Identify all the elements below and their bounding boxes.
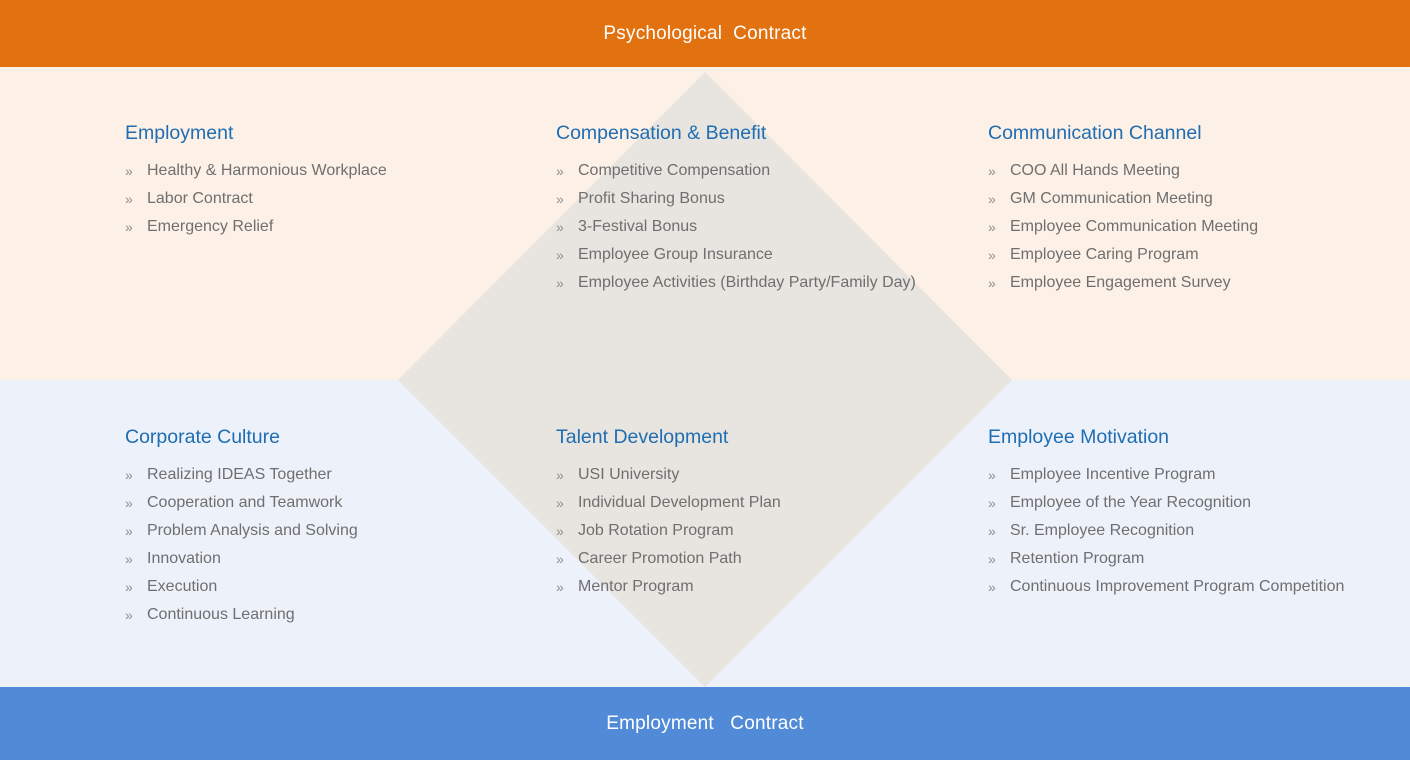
chevron-bullet-icon: »	[556, 545, 564, 573]
list-item: » Career Promotion Path	[556, 545, 916, 573]
chevron-bullet-icon: »	[988, 517, 996, 545]
list-item-label: USI University	[578, 466, 679, 483]
chevron-bullet-icon: »	[556, 489, 564, 517]
chevron-bullet-icon: »	[556, 241, 564, 269]
chevron-bullet-icon: »	[125, 601, 133, 629]
content-grid: Employment » Healthy & Harmonious Workpl…	[0, 67, 1410, 687]
list-item-label: Employee Incentive Program	[1010, 466, 1215, 483]
list-item: » Profit Sharing Bonus	[556, 185, 916, 213]
column-list: » Competitive Compensation » Profit Shar…	[556, 157, 916, 297]
list-item: » Mentor Program	[556, 573, 916, 601]
chevron-bullet-icon: »	[125, 573, 133, 601]
list-item-label: Execution	[147, 578, 217, 595]
list-item: » 3-Festival Bonus	[556, 213, 916, 241]
footer-banner: Employment Contract	[0, 687, 1410, 760]
list-item-label: Job Rotation Program	[578, 522, 734, 539]
list-item: » COO All Hands Meeting	[988, 157, 1358, 185]
list-item-label: Competitive Compensation	[578, 162, 770, 179]
column-list: » Realizing IDEAS Together » Cooperation…	[125, 461, 485, 629]
list-item: » USI University	[556, 461, 916, 489]
chevron-bullet-icon: »	[988, 545, 996, 573]
list-item-label: Employee Caring Program	[1010, 246, 1199, 263]
column-title: Employment	[125, 121, 485, 145]
chevron-bullet-icon: »	[556, 213, 564, 241]
list-item: » Job Rotation Program	[556, 517, 916, 545]
chevron-bullet-icon: »	[556, 517, 564, 545]
column-list: » Employee Incentive Program » Employee …	[988, 461, 1358, 601]
list-item-label: Continuous Improvement Program Competiti…	[1010, 578, 1344, 595]
list-item: » Realizing IDEAS Together	[125, 461, 485, 489]
column-title: Employee Motivation	[988, 425, 1358, 449]
list-item-label: 3-Festival Bonus	[578, 218, 697, 235]
header-title: Psychological Contract	[603, 23, 806, 45]
list-item: » Employee Engagement Survey	[988, 269, 1358, 297]
column-title: Compensation & Benefit	[556, 121, 916, 145]
list-item: » Employee Caring Program	[988, 241, 1358, 269]
list-item-label: Healthy & Harmonious Workplace	[147, 162, 387, 179]
list-item-label: Continuous Learning	[147, 606, 295, 623]
list-item: » Continuous Learning	[125, 601, 485, 629]
list-item-label: Innovation	[147, 550, 221, 567]
list-item-label: Individual Development Plan	[578, 494, 781, 511]
list-item-label: Cooperation and Teamwork	[147, 494, 342, 511]
chevron-bullet-icon: »	[125, 545, 133, 573]
chevron-bullet-icon: »	[125, 213, 133, 241]
list-item: » Employee Incentive Program	[988, 461, 1358, 489]
chevron-bullet-icon: »	[556, 573, 564, 601]
list-item: » Retention Program	[988, 545, 1358, 573]
list-item-label: Profit Sharing Bonus	[578, 190, 725, 207]
list-item: » Emergency Relief	[125, 213, 485, 241]
list-item-label: Labor Contract	[147, 190, 253, 207]
column-talent-development: Talent Development » USI University » In…	[556, 425, 916, 601]
chevron-bullet-icon: »	[988, 489, 996, 517]
list-item: » Healthy & Harmonious Workplace	[125, 157, 485, 185]
list-item: » Employee of the Year Recognition	[988, 489, 1358, 517]
list-item-label: Employee Group Insurance	[578, 246, 773, 263]
chevron-bullet-icon: »	[988, 213, 996, 241]
list-item: » Continuous Improvement Program Competi…	[988, 573, 1358, 601]
chevron-bullet-icon: »	[988, 157, 996, 185]
chevron-bullet-icon: »	[556, 461, 564, 489]
list-item-label: Problem Analysis and Solving	[147, 522, 358, 539]
list-item-label: Employee of the Year Recognition	[1010, 494, 1251, 511]
list-item-label: Realizing IDEAS Together	[147, 466, 332, 483]
column-title: Corporate Culture	[125, 425, 485, 449]
list-item-label: Emergency Relief	[147, 218, 273, 235]
list-item: » Innovation	[125, 545, 485, 573]
list-item: » Employee Group Insurance	[556, 241, 916, 269]
list-item-label: Employee Engagement Survey	[1010, 274, 1231, 291]
list-item-label: GM Communication Meeting	[1010, 190, 1213, 207]
list-item: » Employee Activities (Birthday Party/Fa…	[556, 269, 916, 297]
list-item-label: Career Promotion Path	[578, 550, 742, 567]
list-item-label: Sr. Employee Recognition	[1010, 522, 1194, 539]
column-employment: Employment » Healthy & Harmonious Workpl…	[125, 121, 485, 241]
list-item-label: Mentor Program	[578, 578, 694, 595]
chevron-bullet-icon: »	[988, 461, 996, 489]
list-item: » Execution	[125, 573, 485, 601]
list-item: » Employee Communication Meeting	[988, 213, 1358, 241]
header-banner: Psychological Contract	[0, 0, 1410, 67]
list-item-label: Employee Activities (Birthday Party/Fami…	[578, 274, 916, 291]
list-item: » GM Communication Meeting	[988, 185, 1358, 213]
column-communication-channel: Communication Channel » COO All Hands Me…	[988, 121, 1358, 297]
list-item: » Competitive Compensation	[556, 157, 916, 185]
column-employee-motivation: Employee Motivation » Employee Incentive…	[988, 425, 1358, 601]
chevron-bullet-icon: »	[125, 185, 133, 213]
column-corporate-culture: Corporate Culture » Realizing IDEAS Toge…	[125, 425, 485, 629]
column-title: Talent Development	[556, 425, 916, 449]
column-list: » USI University » Individual Developmen…	[556, 461, 916, 601]
list-item: » Sr. Employee Recognition	[988, 517, 1358, 545]
chevron-bullet-icon: »	[125, 489, 133, 517]
column-compensation-benefit: Compensation & Benefit » Competitive Com…	[556, 121, 916, 297]
chevron-bullet-icon: »	[988, 241, 996, 269]
chevron-bullet-icon: »	[556, 269, 564, 297]
chevron-bullet-icon: »	[988, 269, 996, 297]
chevron-bullet-icon: »	[988, 573, 996, 601]
chevron-bullet-icon: »	[125, 157, 133, 185]
list-item: » Cooperation and Teamwork	[125, 489, 485, 517]
column-title: Communication Channel	[988, 121, 1358, 145]
footer-title: Employment Contract	[606, 713, 803, 735]
column-list: » Healthy & Harmonious Workplace » Labor…	[125, 157, 485, 241]
chevron-bullet-icon: »	[556, 185, 564, 213]
chevron-bullet-icon: »	[988, 185, 996, 213]
list-item: » Labor Contract	[125, 185, 485, 213]
column-list: » COO All Hands Meeting » GM Communicati…	[988, 157, 1358, 297]
list-item: » Individual Development Plan	[556, 489, 916, 517]
chevron-bullet-icon: »	[125, 461, 133, 489]
list-item-label: Employee Communication Meeting	[1010, 218, 1258, 235]
list-item-label: Retention Program	[1010, 550, 1144, 567]
chevron-bullet-icon: »	[125, 517, 133, 545]
slide-root: Psychological Contract Employment » Heal…	[0, 0, 1410, 760]
list-item: » Problem Analysis and Solving	[125, 517, 485, 545]
list-item-label: COO All Hands Meeting	[1010, 162, 1180, 179]
chevron-bullet-icon: »	[556, 157, 564, 185]
